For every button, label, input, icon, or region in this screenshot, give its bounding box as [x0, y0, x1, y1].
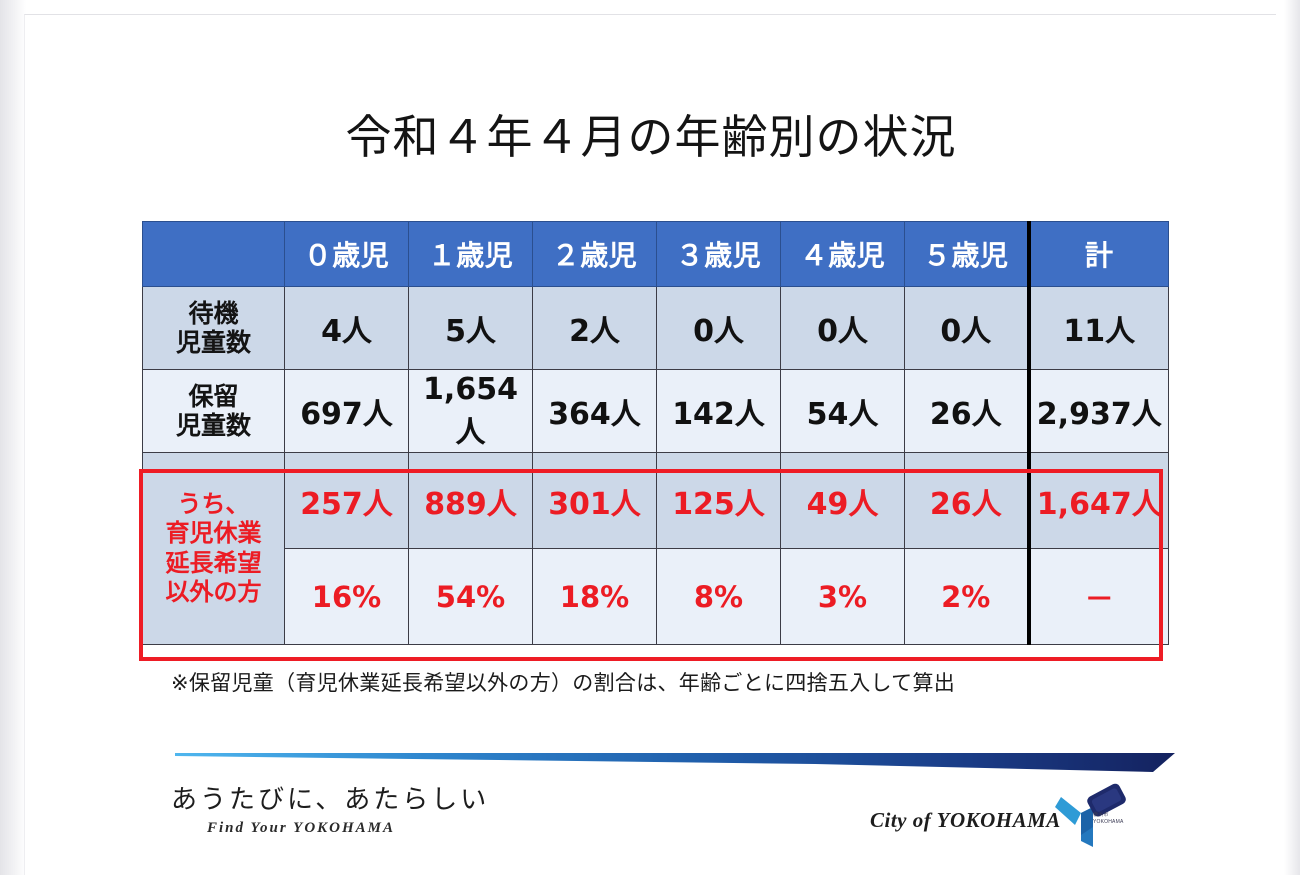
header-cell-age0: ０歳児 [285, 222, 409, 287]
cell-horyu-age0: 697人 [285, 370, 409, 453]
row-label-line: 保留 [143, 382, 284, 412]
cell-ikuji-pct-age3: 8% [657, 549, 781, 645]
stats-table: ０歳児 １歳児 ２歳児 ３歳児 ４歳児 ５歳児 計 待機 児童数 [142, 221, 1169, 645]
cell-horyu-age3: 142人 [657, 370, 781, 453]
logo-caption-line2: YOKOHAMA [1093, 819, 1124, 826]
cell-taiki-age1: 5人 [409, 287, 533, 370]
cell-ikuji-count-total: 1,647人 [1029, 453, 1169, 549]
footer-wedge-decoration [175, 745, 1175, 779]
header-cell-age4: ４歳児 [781, 222, 905, 287]
cell-horyu-age5: 26人 [905, 370, 1029, 453]
logo-caption-line1: 横浜市 [1093, 812, 1124, 819]
header-cell-age1: １歳児 [409, 222, 533, 287]
cell-ikuji-pct-age4: 3% [781, 549, 905, 645]
cell-ikuji-pct-age5: 2% [905, 549, 1029, 645]
cell-horyu-age4: 54人 [781, 370, 905, 453]
logo-caption: 横浜市 YOKOHAMA [1093, 812, 1124, 827]
header-cell-blank [143, 222, 285, 287]
footer-tagline: あうたびに、あたらしい Find Your YOKOHAMA [171, 779, 489, 837]
header-cell-age5: ５歳児 [905, 222, 1029, 287]
slide-canvas: 令和４年４月の年齢別の状況 ０歳児 １歳児 ２歳児 ３歳児 [24, 14, 1276, 875]
row-label-line: 児童数 [143, 328, 284, 358]
table-row-ikuji-count: うち、 育児休業 延長希望 以外の方 257人 889人 301人 125人 4… [143, 453, 1169, 549]
cell-taiki-age0: 4人 [285, 287, 409, 370]
cell-taiki-age4: 0人 [781, 287, 905, 370]
tagline-english: Find Your YOKOHAMA [207, 820, 489, 837]
row-label-taiki: 待機 児童数 [143, 287, 285, 370]
cell-ikuji-count-age1: 889人 [409, 453, 533, 549]
cell-horyu-age1: 1,654人 [409, 370, 533, 453]
header-cell-age3: ３歳児 [657, 222, 781, 287]
row-label-line: うち、 [143, 490, 284, 519]
row-label-line: 以外の方 [143, 578, 284, 607]
table-row-taiki: 待機 児童数 4人 5人 2人 0人 0人 0人 11人 [143, 287, 1169, 370]
cell-ikuji-pct-total: － [1029, 549, 1169, 645]
row-label-line: 待機 [143, 299, 284, 329]
cell-horyu-age2: 364人 [533, 370, 657, 453]
cell-taiki-total: 11人 [1029, 287, 1169, 370]
page-right-edge [1284, 0, 1300, 875]
row-label-line: 育児休業 [143, 519, 284, 548]
page-title: 令和４年４月の年齢別の状況 [25, 101, 1277, 167]
cell-taiki-age2: 2人 [533, 287, 657, 370]
page-root: 令和４年４月の年齢別の状況 ０歳児 １歳児 ２歳児 ３歳児 [0, 0, 1300, 875]
row-label-line: 児童数 [143, 411, 284, 441]
table-row-horyu: 保留 児童数 697人 1,654人 364人 142人 54人 26人 2,9… [143, 370, 1169, 453]
cell-ikuji-count-age4: 49人 [781, 453, 905, 549]
cell-ikuji-pct-age2: 18% [533, 549, 657, 645]
wedge-shape-icon [175, 745, 1175, 779]
stats-table-container: ０歳児 １歳児 ２歳児 ３歳児 ４歳児 ５歳児 計 待機 児童数 [142, 221, 1162, 645]
cell-taiki-age5: 0人 [905, 287, 1029, 370]
cell-ikuji-count-age0: 257人 [285, 453, 409, 549]
footer-city-name: City of YOKOHAMA [870, 808, 1061, 833]
cell-ikuji-count-age2: 301人 [533, 453, 657, 549]
cell-ikuji-count-age5: 26人 [905, 453, 1029, 549]
header-cell-total: 計 [1029, 222, 1169, 287]
cell-horyu-total: 2,937人 [1029, 370, 1169, 453]
cell-taiki-age3: 0人 [657, 287, 781, 370]
tagline-japanese: あうたびに、あたらしい [171, 779, 489, 816]
row-label-line: 延長希望 [143, 549, 284, 578]
cell-ikuji-pct-age1: 54% [409, 549, 533, 645]
row-label-ikuji: うち、 育児休業 延長希望 以外の方 [143, 453, 285, 645]
table-row-ikuji-pct: 16% 54% 18% 8% 3% 2% － [143, 549, 1169, 645]
row-label-horyu: 保留 児童数 [143, 370, 285, 453]
cell-ikuji-count-age3: 125人 [657, 453, 781, 549]
table-header-row: ０歳児 １歳児 ２歳児 ３歳児 ４歳児 ５歳児 計 [143, 222, 1169, 287]
header-cell-age2: ２歳児 [533, 222, 657, 287]
cell-ikuji-pct-age0: 16% [285, 549, 409, 645]
table-footnote: ※保留児童（育児休業延長希望以外の方）の割合は、年齢ごとに四捨五入して算出 [171, 667, 955, 697]
